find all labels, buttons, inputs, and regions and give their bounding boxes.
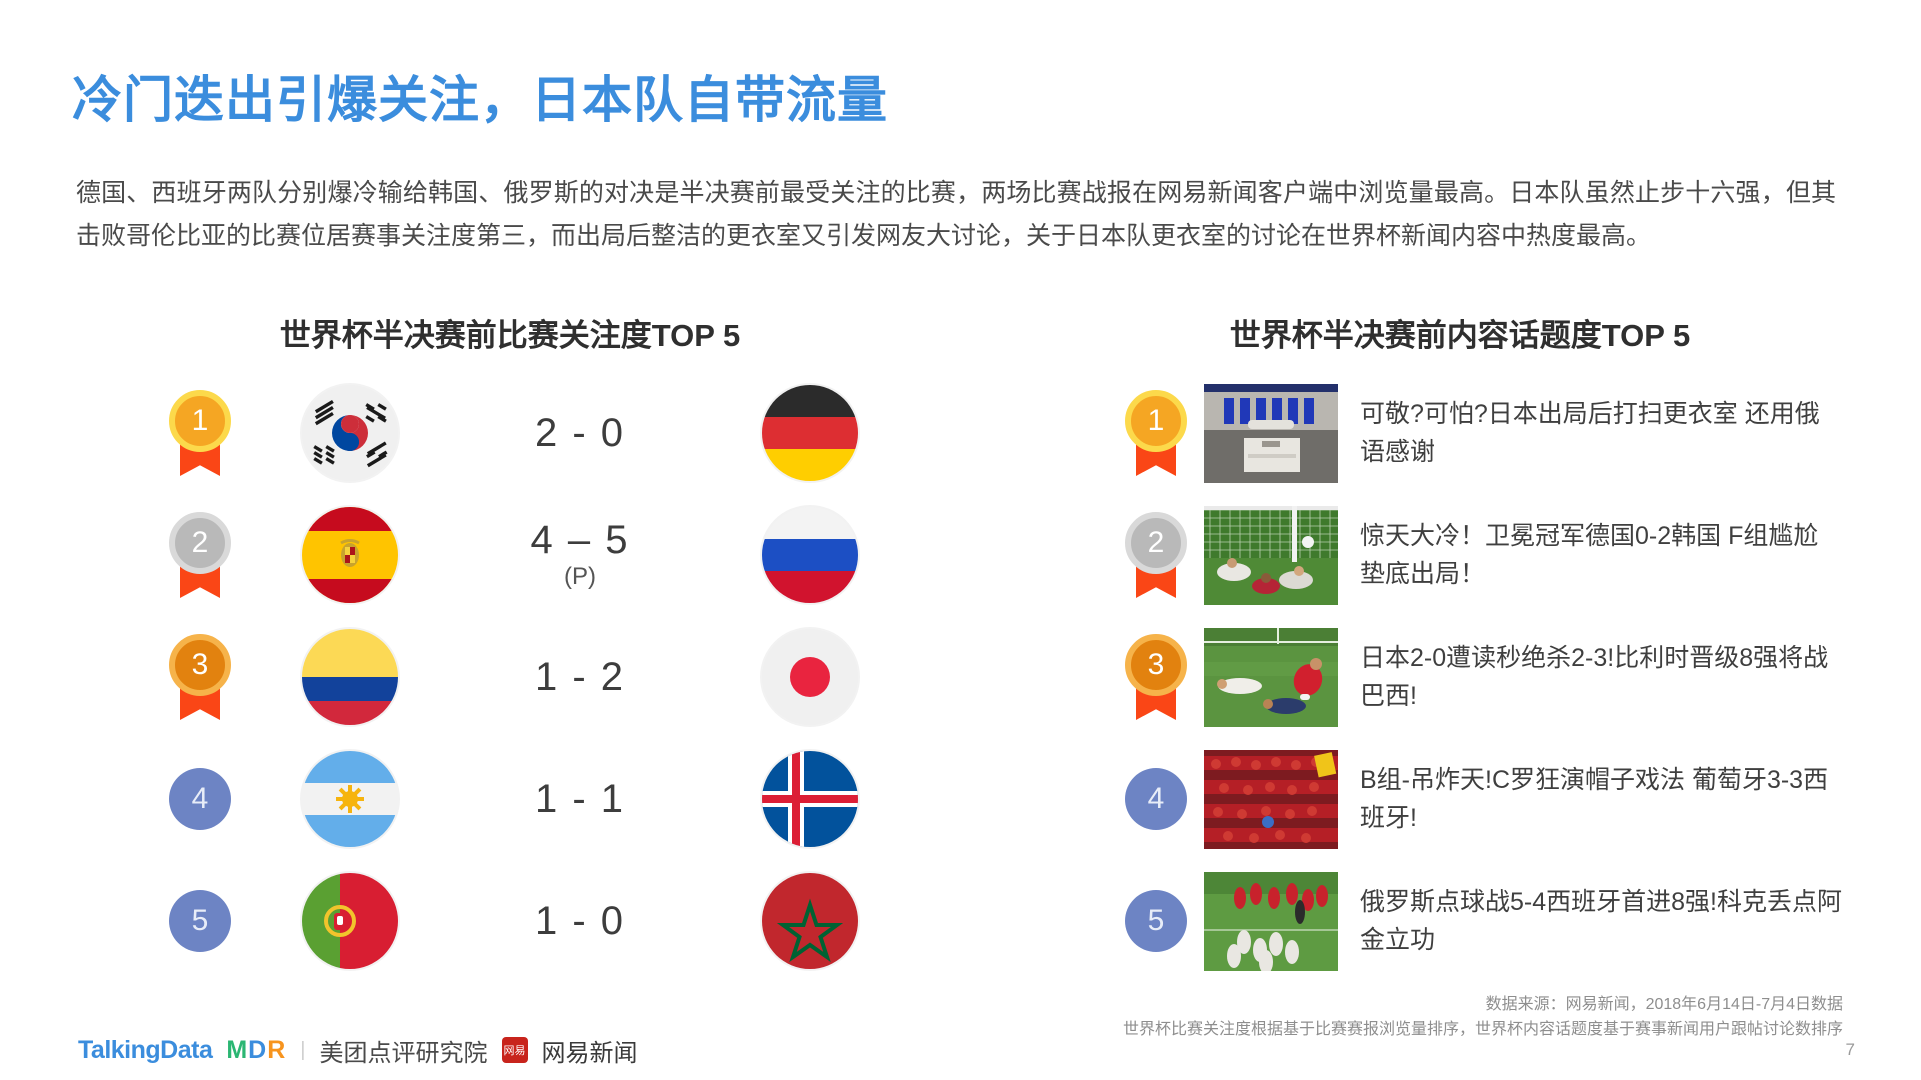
rank-badge: 4: [1125, 768, 1187, 830]
rank-cell: 2: [1108, 512, 1204, 598]
source-note: 数据来源：网易新闻，2018年6月14日-7月4日数据 世界杯比赛关注度根据基于…: [943, 992, 1843, 1042]
away-flag-cell: [720, 385, 900, 481]
list-item[interactable]: 2: [1108, 494, 1848, 616]
intro-paragraph: 德国、西班牙两队分别爆冷输给韩国、俄罗斯的对决是半决赛前最受关注的比赛，两场比赛…: [76, 172, 1836, 258]
divider: |: [300, 1039, 305, 1062]
topic-title: 可敬?可怕?日本出局后打扫更衣室 还用俄语感谢: [1360, 395, 1848, 471]
score-value: 1 - 0: [535, 900, 625, 942]
score-value: 1 - 1: [535, 778, 625, 820]
table-row[interactable]: 5 1 - 0: [140, 860, 900, 982]
netease-logo-icon: 网易: [502, 1037, 528, 1063]
rank-badge: 5: [169, 890, 231, 952]
list-item[interactable]: 3 日本2-0遭读秒绝杀2-3!比利时晋级8强将战巴西!: [1108, 616, 1848, 738]
portugal-flag-icon: [302, 873, 398, 969]
score-cell: 1 - 0: [440, 900, 720, 942]
home-flag-cell: [260, 385, 440, 481]
rank-number: 3: [1125, 634, 1187, 696]
score-value: 1 - 2: [535, 656, 625, 698]
silver-medal-icon: 2: [169, 512, 231, 598]
score-cell: 1 - 2: [440, 656, 720, 698]
rank-cell: 1: [1108, 390, 1204, 476]
south-korea-flag-icon: [302, 385, 398, 481]
list-item[interactable]: 1 可敬?可怕?日本出局后打扫更衣室 还用俄语感谢: [1108, 372, 1848, 494]
silver-medal-icon: 2: [1125, 512, 1187, 598]
score-value: 4 – 5: [531, 519, 630, 561]
rank-cell: 4: [1108, 768, 1204, 830]
spain-flag-icon: [302, 507, 398, 603]
topic-title: 俄罗斯点球战5-4西班牙首进8强!科克丢点阿金立功: [1360, 883, 1848, 959]
colombia-flag-icon: [302, 629, 398, 725]
table-row[interactable]: 3 1 - 2: [140, 616, 900, 738]
topic-popularity-list: 1 可敬?可怕?日本出局后打扫更衣室 还用俄语感谢: [1108, 372, 1848, 982]
mdr-d: D: [248, 1036, 267, 1064]
table-row[interactable]: 4 1 - 1: [140, 738, 900, 860]
list-item[interactable]: 5 俄罗斯点球战5-4西班牙首进8强!科克丢点阿金立功: [1108, 860, 1848, 982]
rank-badge: 4: [169, 768, 231, 830]
page-title: 冷门迭出引爆关注，日本队自带流量: [72, 60, 888, 132]
home-flag-cell: [260, 629, 440, 725]
left-section-heading: 世界杯半决赛前比赛关注度TOP 5: [180, 310, 840, 355]
rank-number: 2: [1125, 512, 1187, 574]
japan-flag-icon: [762, 629, 858, 725]
topic-title: B组-吊炸天!C罗狂演帽子戏法 葡萄牙3-3西班牙!: [1360, 761, 1848, 837]
source-line-2: 世界杯比赛关注度根据基于比赛赛报浏览量排序，世界杯内容话题度基于赛事新闻用户跟帖…: [943, 1017, 1843, 1042]
score-cell: 2 - 0: [440, 412, 720, 454]
score-cell: 4 – 5 (P): [440, 519, 720, 591]
home-flag-cell: [260, 751, 440, 847]
score-note: (P): [564, 563, 596, 591]
table-row[interactable]: 2 4 – 5 (: [140, 494, 900, 616]
away-flag-cell: [720, 629, 900, 725]
talkingdata-logo: TalkingData: [78, 1036, 212, 1065]
topic-title: 日本2-0遭读秒绝杀2-3!比利时晋级8强将战巴西!: [1360, 639, 1848, 715]
home-flag-cell: [260, 507, 440, 603]
match-attention-list: 1: [140, 372, 900, 982]
rank-cell: 1: [140, 390, 260, 476]
table-row[interactable]: 1: [140, 372, 900, 494]
red-crowd-photo[interactable]: [1204, 750, 1338, 849]
rank-cell: 3: [140, 634, 260, 720]
topic-title: 惊天大冷！卫冕冠军德国0-2韩国 F组尴尬垫底出局！: [1360, 517, 1848, 593]
rank-cell: 3: [1108, 634, 1204, 720]
away-flag-cell: [720, 873, 900, 969]
score-cell: 1 - 1: [440, 778, 720, 820]
russia-flag-icon: [762, 507, 858, 603]
bronze-medal-icon: 3: [1125, 634, 1187, 720]
gold-medal-icon: 1: [169, 390, 231, 476]
source-line-1: 数据来源：网易新闻，2018年6月14日-7月4日数据: [943, 992, 1843, 1017]
mdr-logo: MDR: [226, 1036, 286, 1065]
right-section-heading: 世界杯半决赛前内容话题度TOP 5: [1110, 310, 1810, 355]
gold-medal-icon: 1: [1125, 390, 1187, 476]
germany-flag-icon: [762, 385, 858, 481]
rank-number: 3: [169, 634, 231, 696]
brand-bar: TalkingData MDR | 美团点评研究院 网易 网易新闻: [78, 1033, 638, 1067]
rank-number: 1: [1125, 390, 1187, 452]
rank-cell: 4: [140, 768, 260, 830]
locker-room-photo[interactable]: [1204, 384, 1338, 483]
penalty-celebration-photo[interactable]: [1204, 872, 1338, 971]
morocco-flag-icon: [762, 873, 858, 969]
away-flag-cell: [720, 751, 900, 847]
iceland-flag-icon: [762, 751, 858, 847]
score-value: 2 - 0: [535, 412, 625, 454]
argentina-flag-icon: [302, 751, 398, 847]
page-number: 7: [1846, 1040, 1855, 1060]
mdr-m: M: [226, 1036, 248, 1064]
rank-cell: 5: [140, 890, 260, 952]
mdr-r: R: [267, 1036, 286, 1064]
meituan-research-label: 美团点评研究院: [320, 1033, 488, 1068]
rank-number: 2: [169, 512, 231, 574]
rank-cell: 2: [140, 512, 260, 598]
away-flag-cell: [720, 507, 900, 603]
goal-mouth-photo[interactable]: [1204, 506, 1338, 605]
home-flag-cell: [260, 873, 440, 969]
rank-cell: 5: [1108, 890, 1204, 952]
rank-number: 1: [169, 390, 231, 452]
bronze-medal-icon: 3: [169, 634, 231, 720]
rank-badge: 5: [1125, 890, 1187, 952]
netease-news-label: 网易新闻: [542, 1033, 638, 1068]
players-on-pitch-photo[interactable]: [1204, 628, 1338, 727]
list-item[interactable]: 4: [1108, 738, 1848, 860]
